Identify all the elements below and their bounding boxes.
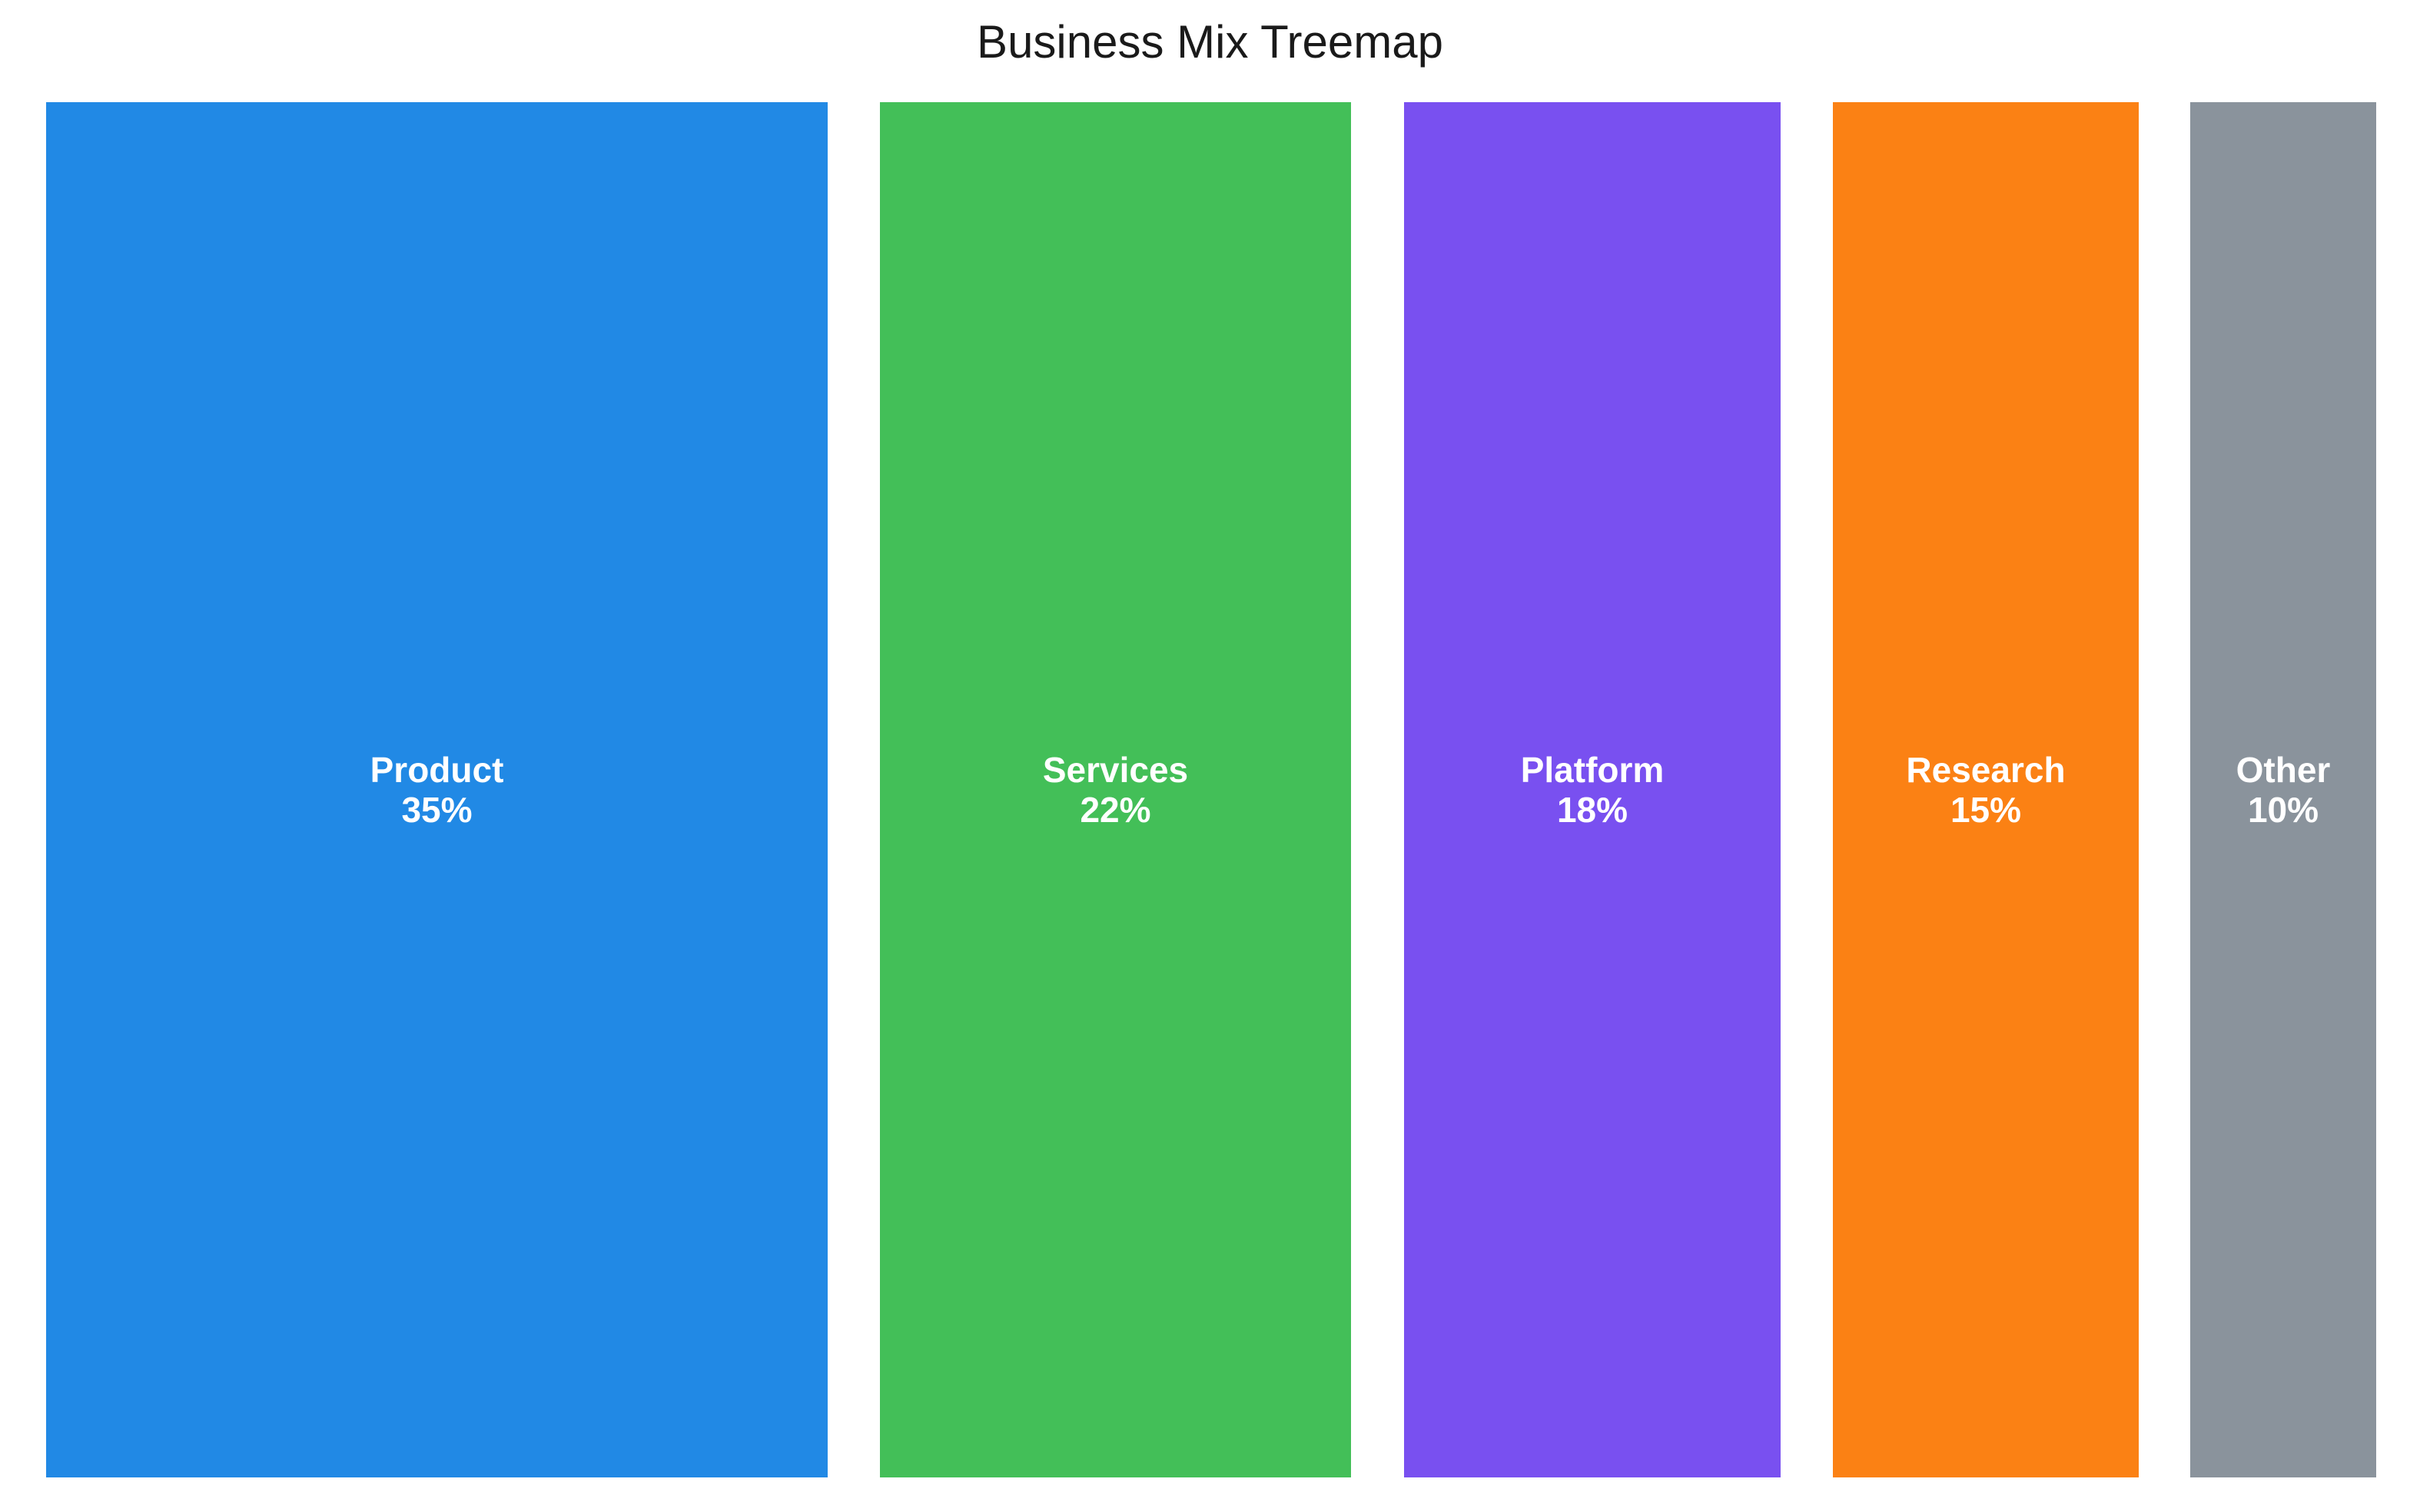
treemap-tile-label-group: Product 35% xyxy=(46,750,828,830)
treemap-tile-value: 18% xyxy=(1404,790,1781,830)
treemap-tile-name: Product xyxy=(46,750,828,790)
treemap-tile-label-group: Platform 18% xyxy=(1404,750,1781,830)
treemap-chart: Business Mix Treemap Product 35% Service… xyxy=(0,0,2420,1512)
treemap-tile[interactable]: Platform 18% xyxy=(1404,102,1781,1477)
treemap-tile-value: 10% xyxy=(2190,790,2376,830)
treemap-tile-value: 22% xyxy=(880,790,1351,830)
treemap-tile-label-group: Research 15% xyxy=(1833,750,2139,830)
treemap-tile-value: 35% xyxy=(46,790,828,830)
treemap-tile[interactable]: Research 15% xyxy=(1833,102,2139,1477)
treemap-tile-value: 15% xyxy=(1833,790,2139,830)
treemap-tile[interactable]: Other 10% xyxy=(2190,102,2376,1477)
treemap-tile-label-group: Other 10% xyxy=(2190,750,2376,830)
treemap-tile[interactable]: Product 35% xyxy=(46,102,828,1477)
treemap-tile-name: Services xyxy=(880,750,1351,790)
treemap-tile-name: Other xyxy=(2190,750,2376,790)
treemap-tile[interactable]: Services 22% xyxy=(880,102,1351,1477)
treemap-tile-label-group: Services 22% xyxy=(880,750,1351,830)
chart-title: Business Mix Treemap xyxy=(0,0,2420,85)
treemap-tile-name: Platform xyxy=(1404,750,1781,790)
treemap-tile-name: Research xyxy=(1833,750,2139,790)
treemap-plot-area: Product 35% Services 22% Platform 18% Re… xyxy=(46,102,2376,1477)
